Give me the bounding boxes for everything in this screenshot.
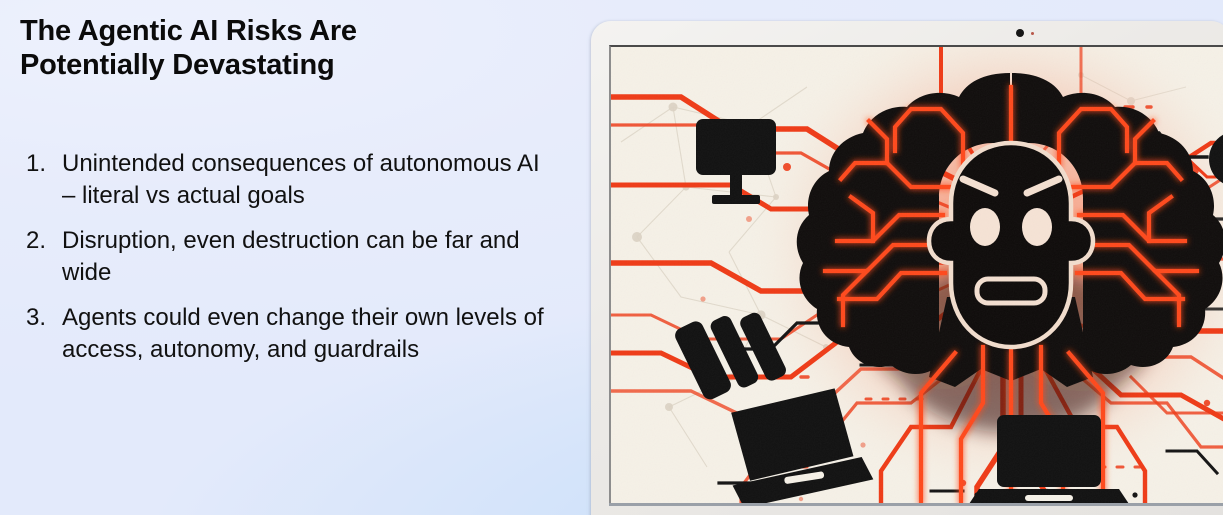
list-item: 2. Disruption, even destruction can be f… — [14, 225, 559, 289]
tablet-screen — [609, 45, 1223, 503]
list-item-number: 3. — [14, 302, 62, 366]
robot-mouth — [977, 279, 1045, 303]
robot-eye-left — [970, 208, 1000, 246]
tablet-bezel-top — [591, 21, 1223, 45]
list-item-number: 2. — [14, 225, 62, 289]
list-item-number: 1. — [14, 148, 62, 212]
list-item-text: Agents could even change their own level… — [62, 302, 559, 366]
risk-list: 1. Unintended consequences of autonomous… — [14, 148, 559, 379]
agentic-ai-artwork — [611, 47, 1223, 503]
tablet-screen-bottom-edge — [609, 503, 1223, 506]
tablet-mockup — [591, 21, 1223, 515]
slide-title-line-2: Potentially Devastating — [20, 48, 540, 82]
list-item: 1. Unintended consequences of autonomous… — [14, 148, 559, 212]
robot-eye-right — [1022, 208, 1052, 246]
slide-title-line-1: The Agentic AI Risks Are — [20, 14, 540, 48]
list-item-text: Disruption, even destruction can be far … — [62, 225, 559, 289]
slide-canvas: The Agentic AI Risks Are Potentially Dev… — [0, 0, 1223, 515]
list-item: 3. Agents could even change their own le… — [14, 302, 559, 366]
slide-title: The Agentic AI Risks Are Potentially Dev… — [20, 14, 540, 82]
camera-led-icon — [1031, 32, 1034, 35]
camera-dot-icon — [1016, 29, 1024, 37]
list-item-text: Unintended consequences of autonomous AI… — [62, 148, 559, 212]
